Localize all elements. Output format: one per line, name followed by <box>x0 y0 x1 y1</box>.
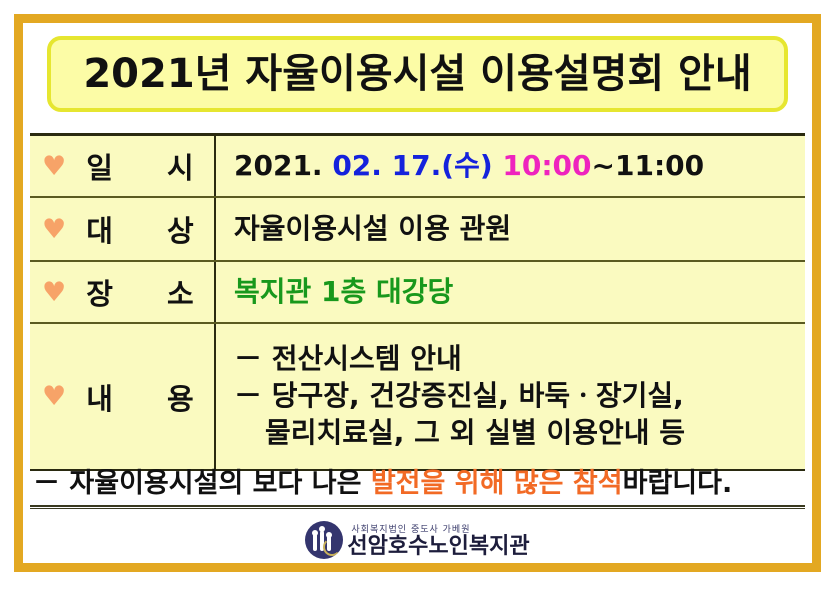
row-label-content: 내 용 <box>80 376 215 418</box>
content-line-2: － 당구장, 건강증진실, 바둑ㆍ장기실, <box>234 378 805 415</box>
label-cell-place: ♥ 장 소 <box>30 262 216 322</box>
organization-logo: 사회복지법인 중도사 가베원 선암호수노인복지관 <box>0 521 835 559</box>
announcement-poster: 2021년 자율이용시설 이용설명회 안내 ♥ 일 시 2021. 02. 17… <box>0 0 835 590</box>
page-title: 2021년 자율이용시설 이용설명회 안내 <box>83 54 751 94</box>
label-cell-content: ♥ 내 용 <box>30 324 216 469</box>
table-row-datetime: ♥ 일 시 2021. 02. 17.(수) 10:00~11:00 <box>30 136 805 198</box>
value-cell-place: 복지관 1층 대강당 <box>216 262 805 322</box>
row-label-datetime: 일 시 <box>80 145 215 187</box>
datetime-value: 2021. 02. 17.(수) 10:00~11:00 <box>234 148 805 185</box>
info-table: ♥ 일 시 2021. 02. 17.(수) 10:00~11:00 ♥ 대 상… <box>30 133 805 471</box>
content-line-1: － 전산시스템 안내 <box>234 341 805 378</box>
table-row-place: ♥ 장 소 복지관 1층 대강당 <box>30 262 805 324</box>
datetime-start-time: 10:00 <box>493 149 592 182</box>
poster-title-box: 2021년 자율이용시설 이용설명회 안내 <box>47 36 788 112</box>
table-row-target: ♥ 대 상 자율이용시설 이용 관원 <box>30 198 805 262</box>
place-value: 복지관 1층 대강당 <box>234 274 805 311</box>
footer-note: － 자율이용시설의 보다 나은 발전을 위해 많은 참석바랍니다. <box>33 470 805 497</box>
value-cell-target: 자율이용시설 이용 관원 <box>216 198 805 260</box>
footer-divider <box>30 505 805 509</box>
heart-icon: ♥ <box>42 279 66 306</box>
datetime-year: 2021. <box>234 149 323 182</box>
row-label-target: 대 상 <box>80 208 215 250</box>
content-line-3: 물리치료실, 그 외 실별 이용안내 등 <box>234 415 805 452</box>
label-cell-target: ♥ 대 상 <box>30 198 216 260</box>
footer-note-part-3: 바랍니다. <box>623 468 733 499</box>
heart-icon: ♥ <box>42 153 66 180</box>
logo-name: 선암호수노인복지관 <box>347 536 529 558</box>
datetime-date: 02. 17.(수) <box>323 149 493 182</box>
heart-icon: ♥ <box>42 216 66 243</box>
footer-note-part-1: － 자율이용시설의 보다 나은 <box>33 468 371 499</box>
target-value: 자율이용시설 이용 관원 <box>234 211 805 248</box>
value-cell-datetime: 2021. 02. 17.(수) 10:00~11:00 <box>216 136 805 196</box>
logo-text-group: 사회복지법인 중도사 가베원 선암호수노인복지관 <box>347 522 529 558</box>
row-label-place: 장 소 <box>80 271 215 313</box>
value-cell-content: － 전산시스템 안내 － 당구장, 건강증진실, 바둑ㆍ장기실, 물리치료실, … <box>216 324 805 469</box>
footer-note-highlight: 발전을 위해 많은 참석 <box>371 468 623 499</box>
datetime-end-time: ~11:00 <box>592 149 705 182</box>
table-row-content: ♥ 내 용 － 전산시스템 안내 － 당구장, 건강증진실, 바둑ㆍ장기실, 물… <box>30 324 805 469</box>
heart-icon: ♥ <box>42 383 66 410</box>
label-cell-datetime: ♥ 일 시 <box>30 136 216 196</box>
welfare-center-emblem-icon <box>305 521 343 559</box>
